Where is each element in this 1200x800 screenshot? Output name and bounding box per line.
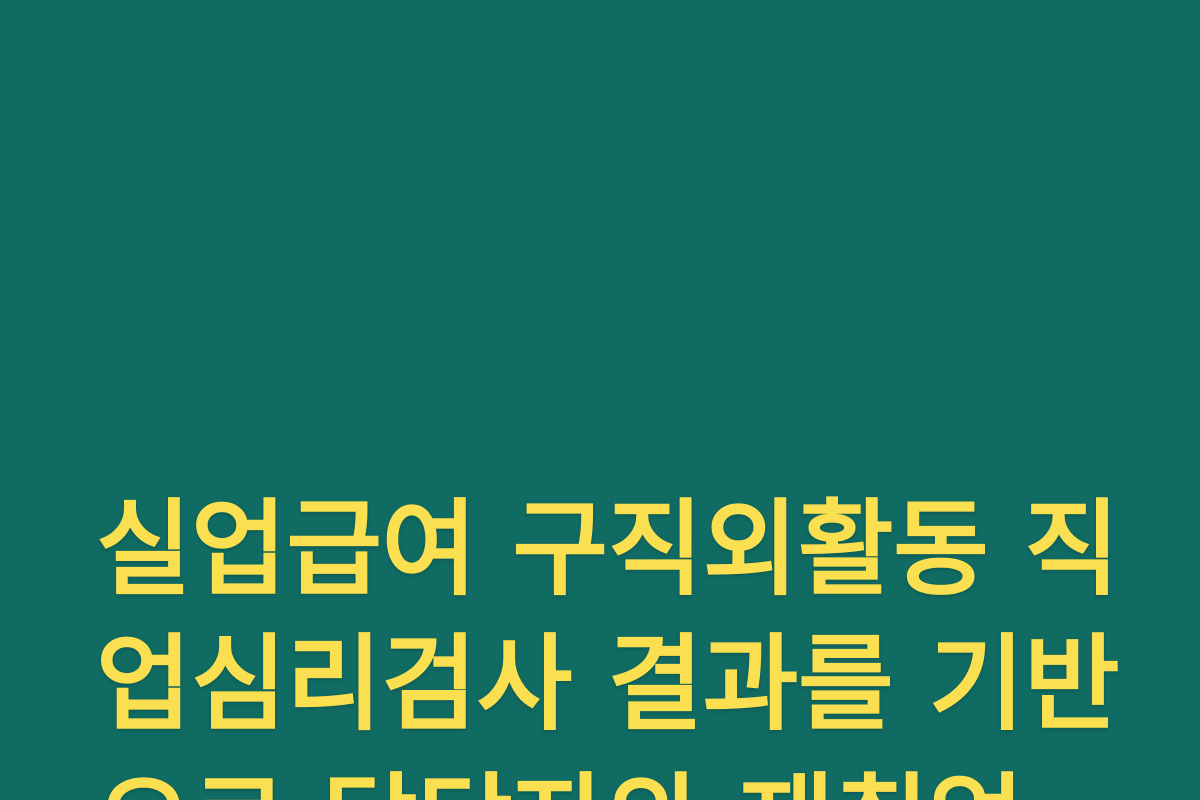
- headline-line-3-text: 으로 담당자와 재취업: [96, 762, 1060, 800]
- headline-line-2: 업심리검사 결과를 기반: [96, 617, 1132, 752]
- ellipsis-truncation-indicator: …: [1060, 758, 1166, 800]
- thumbnail-card: 실업급여 구직외활동 직업심리검사 결과를 기반으로 담당자와 재취업 …: [0, 0, 1200, 800]
- headline-line-3: 으로 담당자와 재취업 …: [96, 752, 1132, 800]
- page-title: 실업급여 구직외활동 직업심리검사 결과를 기반으로 담당자와 재취업 …: [96, 212, 1132, 800]
- headline-line-1: 실업급여 구직외활동 직: [96, 482, 1132, 617]
